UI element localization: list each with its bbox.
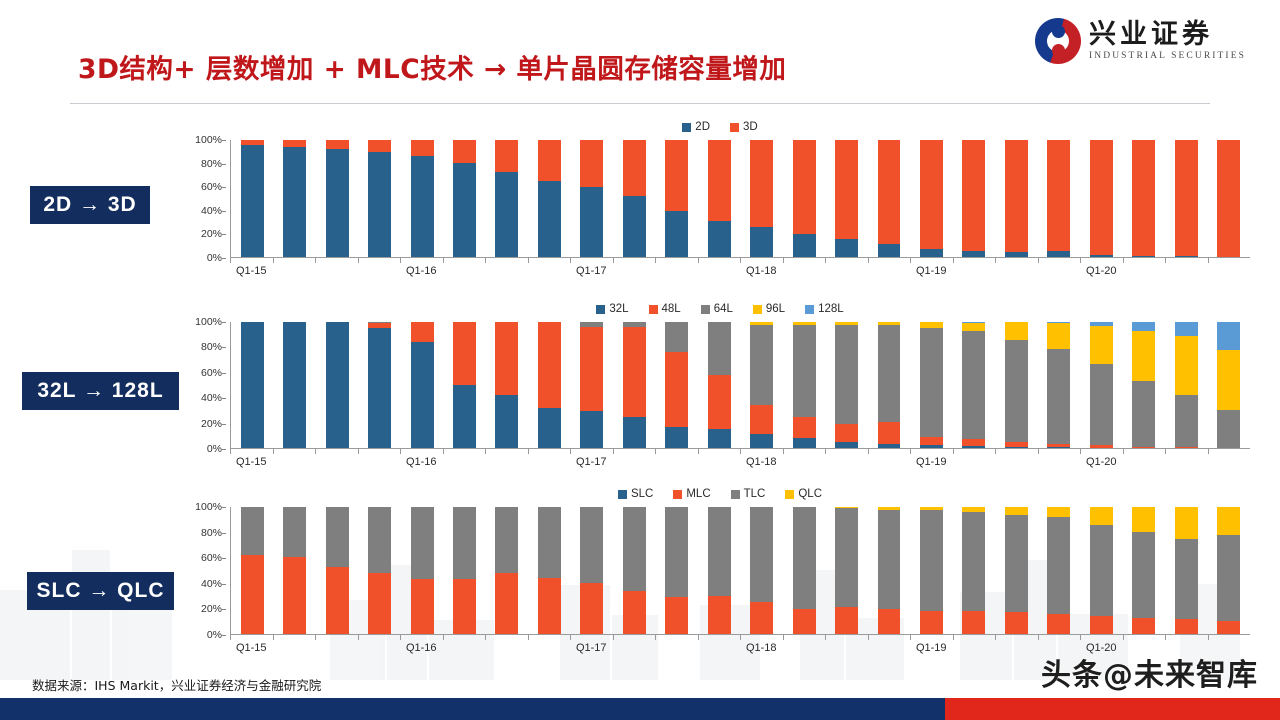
x-axis-tick-mark xyxy=(443,258,486,263)
bar-slot xyxy=(486,322,528,448)
stacked-bar[interactable] xyxy=(453,140,476,257)
bar-segment xyxy=(1005,447,1028,448)
bar-segment xyxy=(665,211,688,257)
bar-segment xyxy=(750,227,773,257)
bar-segment xyxy=(1047,507,1070,517)
bar-segment xyxy=(1175,507,1198,539)
x-axis-tick-mark xyxy=(315,635,358,640)
bar-segment xyxy=(1090,140,1113,255)
legend-item[interactable]: QLC xyxy=(785,488,822,500)
stacked-bar[interactable] xyxy=(495,507,518,634)
x-axis-tick-label xyxy=(613,456,656,468)
bar-slot xyxy=(571,322,613,448)
x-axis-tick-mark xyxy=(655,449,698,454)
x-axis-tick-label: Q1-16 xyxy=(400,642,443,654)
legend-item[interactable]: MLC xyxy=(673,488,710,500)
stacked-bar[interactable] xyxy=(495,140,518,257)
bar-slot xyxy=(953,507,995,634)
legend-item[interactable]: TLC xyxy=(731,488,766,500)
bar-segment xyxy=(920,510,943,612)
stacked-bar[interactable] xyxy=(1132,322,1155,448)
x-axis-tick-mark xyxy=(1038,635,1081,640)
bar-segment xyxy=(368,140,391,152)
bar-slot xyxy=(316,140,358,257)
stacked-bar[interactable] xyxy=(665,322,688,448)
x-axis-tick-label xyxy=(1123,265,1166,277)
x-axis-tick-label: Q1-18 xyxy=(740,265,783,277)
x-axis-tick-label xyxy=(698,456,741,468)
legend-label: SLC xyxy=(631,488,653,500)
bar-segment xyxy=(878,422,901,445)
x-axis-tick-mark xyxy=(315,449,358,454)
bar-segment xyxy=(495,395,518,448)
bar-segment xyxy=(835,140,858,239)
stacked-bar[interactable] xyxy=(495,322,518,448)
x-axis-tick-label xyxy=(315,642,358,654)
bar-segment xyxy=(750,507,773,602)
stacked-bar[interactable] xyxy=(580,140,603,257)
bar-segment xyxy=(1005,612,1028,634)
y-axis-tick-label: 20% xyxy=(201,228,222,240)
bar-slot xyxy=(995,140,1037,257)
x-axis-tick-mark xyxy=(910,258,953,263)
stacked-bar[interactable] xyxy=(538,507,561,634)
x-axis-tick-label: Q1-20 xyxy=(1080,456,1123,468)
bar-slot xyxy=(231,507,273,634)
bar-segment xyxy=(1090,525,1113,616)
stacked-bar[interactable] xyxy=(708,322,731,448)
x-axis-tick-label xyxy=(485,642,528,654)
bar-segment xyxy=(708,322,731,375)
stacked-bar[interactable] xyxy=(750,507,773,634)
y-axis-tick-label: 40% xyxy=(201,578,222,590)
x-axis-tick-label xyxy=(1208,265,1251,277)
stacked-bar[interactable] xyxy=(623,322,646,448)
bar-segment xyxy=(962,439,985,446)
bar-segment xyxy=(538,181,561,257)
bar-segment xyxy=(835,607,858,634)
legend-item[interactable]: 96L xyxy=(753,303,785,315)
stacked-bar[interactable] xyxy=(368,140,391,257)
stacked-bar[interactable] xyxy=(283,140,306,257)
x-axis-tick-label xyxy=(655,642,698,654)
chart-legend: 32L48L64L96L128L xyxy=(190,300,1250,318)
bar-slot xyxy=(868,507,910,634)
stacked-bar[interactable] xyxy=(1005,322,1028,448)
stacked-bar[interactable] xyxy=(1175,140,1198,257)
y-axis-tick-label: 100% xyxy=(195,316,222,328)
bar-segment xyxy=(1132,140,1155,256)
bar-segment xyxy=(538,408,561,448)
stacked-bar[interactable] xyxy=(793,507,816,634)
x-axis-tick-label xyxy=(698,265,741,277)
x-axis-tick-mark xyxy=(400,258,443,263)
legend-item[interactable]: 32L xyxy=(596,303,628,315)
stacked-bar[interactable] xyxy=(1090,140,1113,257)
y-axis-tick-label: 60% xyxy=(201,367,222,379)
stacked-bar[interactable] xyxy=(411,140,434,257)
stacked-bar[interactable] xyxy=(962,507,985,634)
x-axis-tick-mark xyxy=(1165,258,1208,263)
x-axis-tick-mark xyxy=(230,635,273,640)
x-axis-tick-label xyxy=(315,456,358,468)
stacked-bar[interactable] xyxy=(1217,507,1240,634)
x-axis-tick-mark xyxy=(910,449,953,454)
bar-segment xyxy=(962,140,985,251)
bar-segment xyxy=(1175,322,1198,336)
x-axis-tick-label: Q1-18 xyxy=(740,456,783,468)
stacked-bar[interactable] xyxy=(793,140,816,257)
bar-segment xyxy=(1217,507,1240,535)
x-axis-tick-label: Q1-18 xyxy=(740,642,783,654)
stacked-bar[interactable] xyxy=(962,322,985,448)
bar-slot xyxy=(1123,507,1165,634)
bar-segment xyxy=(878,325,901,422)
stacked-bar[interactable] xyxy=(241,322,264,448)
legend-swatch-icon xyxy=(673,490,682,499)
badge-slc-to-qlc: SLC → QLC xyxy=(27,572,174,610)
x-axis-tick-mark xyxy=(400,449,443,454)
bar-slot xyxy=(273,322,315,448)
stacked-bar[interactable] xyxy=(368,322,391,448)
bar-segment xyxy=(962,331,985,438)
bar-segment xyxy=(835,508,858,607)
bar-slot xyxy=(401,507,443,634)
x-axis-tick-mark xyxy=(230,258,273,263)
x-axis-tick-label xyxy=(953,265,996,277)
bar-segment xyxy=(962,446,985,448)
bar-slot xyxy=(231,140,273,257)
bar-segment xyxy=(878,510,901,609)
bar-slot xyxy=(698,140,740,257)
x-axis-tick-label: Q1-15 xyxy=(230,642,273,654)
stacked-bar[interactable] xyxy=(538,322,561,448)
bar-segment xyxy=(1217,410,1240,448)
legend-item[interactable]: 2D xyxy=(682,121,710,133)
bar-segment xyxy=(1047,614,1070,634)
bar-segment xyxy=(1047,447,1070,448)
bar-segment xyxy=(878,140,901,244)
stacked-bar[interactable] xyxy=(665,507,688,634)
x-axis-tick-label: Q1-17 xyxy=(570,456,613,468)
legend-item[interactable]: 48L xyxy=(649,303,681,315)
legend-swatch-icon xyxy=(649,305,658,314)
y-axis-tick-label: 40% xyxy=(201,205,222,217)
bar-slot xyxy=(528,140,570,257)
stacked-bar[interactable] xyxy=(1005,507,1028,634)
stacked-bar[interactable] xyxy=(920,322,943,448)
x-axis-tick-mark xyxy=(570,449,613,454)
bar-segment xyxy=(920,445,943,448)
x-axis-tick-label xyxy=(528,456,571,468)
bar-slot xyxy=(825,140,867,257)
x-axis-tick-label xyxy=(485,456,528,468)
stacked-bar[interactable] xyxy=(1047,507,1070,634)
bar-segment xyxy=(241,322,264,448)
x-axis-tick-mark xyxy=(655,258,698,263)
stacked-bar[interactable] xyxy=(750,322,773,448)
logo-chinese-name: 兴业证券 xyxy=(1089,21,1246,48)
bar-segment xyxy=(368,152,391,257)
bar-slot xyxy=(273,140,315,257)
legend-swatch-icon xyxy=(618,490,627,499)
x-axis-tick-label xyxy=(698,642,741,654)
chart-plot: 100%80%60%40%20%0% Q1-15Q1-16Q1-17Q1-18Q… xyxy=(190,322,1250,449)
bar-segment xyxy=(793,417,816,438)
x-axis-tick-label xyxy=(825,456,868,468)
x-axis-tick-mark xyxy=(1208,258,1251,263)
bar-slot xyxy=(1080,507,1122,634)
stacked-bar[interactable] xyxy=(708,140,731,257)
bar-segment xyxy=(835,325,858,425)
bar-segment xyxy=(368,507,391,573)
bar-slot xyxy=(358,322,400,448)
legend-label: 32L xyxy=(609,303,628,315)
plot-area xyxy=(230,507,1250,635)
y-axis-tick-mark xyxy=(222,140,226,141)
stacked-bar[interactable] xyxy=(580,507,603,634)
footer-bar-navy xyxy=(0,698,945,720)
bar-slot xyxy=(1123,322,1165,448)
y-axis-tick-label: 0% xyxy=(207,629,222,641)
bar-segment xyxy=(623,196,646,257)
x-axis-tick-mark xyxy=(1080,258,1123,263)
stacked-bar[interactable] xyxy=(835,140,858,257)
legend-item[interactable]: 128L xyxy=(805,303,844,315)
y-axis-tick-mark xyxy=(222,258,226,259)
bar-segment xyxy=(283,507,306,557)
bar-slot xyxy=(698,507,740,634)
stacked-bar[interactable] xyxy=(453,322,476,448)
bar-segment xyxy=(793,609,816,634)
bar-segment xyxy=(241,507,264,555)
bar-segment xyxy=(920,328,943,436)
stacked-bar[interactable] xyxy=(241,140,264,257)
stacked-bar[interactable] xyxy=(1047,322,1070,448)
x-axis-tick-label xyxy=(273,642,316,654)
y-axis-tick-mark xyxy=(222,507,226,508)
page-title: 3D结构+ 层数增加 + MLC技术 → 单片晶圆存储容量增加 xyxy=(78,47,786,86)
stacked-bar[interactable] xyxy=(878,507,901,634)
stacked-bar[interactable] xyxy=(326,140,349,257)
bar-segment xyxy=(580,583,603,634)
y-axis-tick-mark xyxy=(222,347,226,348)
source-note: 数据来源：IHS Markit，兴业证券经济与金融研究院 xyxy=(32,675,321,694)
bar-segment xyxy=(793,140,816,234)
chart-legend: SLCMLCTLCQLC xyxy=(190,485,1250,503)
bar-slot xyxy=(740,322,782,448)
x-axis-tick-label xyxy=(443,265,486,277)
legend-item[interactable]: 3D xyxy=(730,121,758,133)
x-axis-tick-label: Q1-15 xyxy=(230,456,273,468)
stacked-bar[interactable] xyxy=(411,322,434,448)
stacked-bar[interactable] xyxy=(1175,507,1198,634)
stacked-bar[interactable] xyxy=(962,140,985,257)
stacked-bar[interactable] xyxy=(878,140,901,257)
stacked-bar[interactable] xyxy=(920,507,943,634)
bar-segment xyxy=(1005,322,1028,340)
x-axis-tick-mark xyxy=(273,449,316,454)
x-axis-tick-mark xyxy=(1080,635,1123,640)
x-axis-tick-label xyxy=(485,265,528,277)
x-axis-tick-label: Q1-19 xyxy=(910,456,953,468)
stacked-bar[interactable] xyxy=(538,140,561,257)
x-axis-tick-label xyxy=(613,265,656,277)
stacked-bar[interactable] xyxy=(1217,140,1240,257)
x-axis-tick-mark xyxy=(485,449,528,454)
stacked-bar[interactable] xyxy=(623,140,646,257)
legend-item[interactable]: SLC xyxy=(618,488,653,500)
legend-item[interactable]: 64L xyxy=(701,303,733,315)
bar-slot xyxy=(571,140,613,257)
x-axis-tick-mark xyxy=(1038,258,1081,263)
bar-segment xyxy=(962,512,985,611)
stacked-bar[interactable] xyxy=(920,140,943,257)
bar-segment xyxy=(793,507,816,609)
x-axis-tick-mark xyxy=(1123,449,1166,454)
bar-slot xyxy=(571,507,613,634)
x-axis-tick-label xyxy=(953,456,996,468)
stacked-bar[interactable] xyxy=(580,322,603,448)
stacked-bar[interactable] xyxy=(878,322,901,448)
bar-segment xyxy=(538,507,561,578)
bar-slot xyxy=(656,140,698,257)
x-axis-tick-mark xyxy=(358,449,401,454)
stacked-bar[interactable] xyxy=(1217,322,1240,448)
bar-segment xyxy=(495,140,518,172)
stacked-bar[interactable] xyxy=(1090,507,1113,634)
bar-segment xyxy=(1047,140,1070,251)
x-axis-tick-mark xyxy=(273,635,316,640)
bar-slot xyxy=(953,322,995,448)
stacked-bar[interactable] xyxy=(708,507,731,634)
bar-segment xyxy=(920,611,943,634)
stacked-bar[interactable] xyxy=(283,322,306,448)
bar-series-container xyxy=(231,507,1250,634)
bar-segment xyxy=(1005,515,1028,613)
y-axis-tick-mark xyxy=(222,558,226,559)
y-axis-tick-label: 0% xyxy=(207,443,222,455)
chart-plot: 100%80%60%40%20%0% Q1-15Q1-16Q1-17Q1-18Q… xyxy=(190,507,1250,635)
bar-segment xyxy=(665,140,688,211)
stacked-bar[interactable] xyxy=(1005,140,1028,257)
bar-segment xyxy=(962,251,985,257)
legend-swatch-icon xyxy=(682,123,691,132)
stacked-bar[interactable] xyxy=(283,507,306,634)
stacked-bar[interactable] xyxy=(453,507,476,634)
x-axis-tick-label xyxy=(358,456,401,468)
bar-segment xyxy=(708,596,731,634)
stacked-bar[interactable] xyxy=(1175,322,1198,448)
legend-label: 2D xyxy=(695,121,710,133)
stacked-bar[interactable] xyxy=(411,507,434,634)
bar-segment xyxy=(1047,251,1070,257)
legend-swatch-icon xyxy=(730,123,739,132)
bar-slot xyxy=(1123,140,1165,257)
bar-slot xyxy=(613,140,655,257)
x-axis-tick-mark xyxy=(953,449,996,454)
x-axis-tick-label xyxy=(1123,456,1166,468)
y-axis-tick-label: 20% xyxy=(201,418,222,430)
bar-segment xyxy=(495,573,518,634)
stacked-bar[interactable] xyxy=(750,140,773,257)
y-axis-tick-mark xyxy=(222,635,226,636)
bar-slot xyxy=(910,140,952,257)
x-axis-tick-mark xyxy=(230,449,273,454)
stacked-bar[interactable] xyxy=(326,507,349,634)
stacked-bar[interactable] xyxy=(835,322,858,448)
x-axis-tick-mark xyxy=(613,449,656,454)
plot-area xyxy=(230,322,1250,449)
bar-segment xyxy=(920,437,943,446)
stacked-bar[interactable] xyxy=(1090,322,1113,448)
bar-segment xyxy=(1217,535,1240,621)
bar-slot xyxy=(528,322,570,448)
bar-slot xyxy=(1080,140,1122,257)
bar-slot xyxy=(401,322,443,448)
bar-slot xyxy=(486,507,528,634)
stacked-bar[interactable] xyxy=(326,322,349,448)
bar-segment xyxy=(538,322,561,408)
stacked-bar[interactable] xyxy=(623,507,646,634)
watermark: 头条@未来智库 xyxy=(1041,650,1258,694)
bar-slot xyxy=(316,507,358,634)
x-axis-tick-mark xyxy=(995,635,1038,640)
bar-segment xyxy=(1005,340,1028,442)
logo-swirl-icon xyxy=(1035,18,1081,64)
bar-segment xyxy=(411,156,434,257)
bar-segment xyxy=(878,609,901,634)
y-axis-tick-mark xyxy=(222,398,226,399)
stacked-bar[interactable] xyxy=(241,507,264,634)
bar-segment xyxy=(708,429,731,448)
x-axis-tick-mark xyxy=(528,635,571,640)
bar-segment xyxy=(453,322,476,385)
bar-slot xyxy=(1038,140,1080,257)
stacked-bar[interactable] xyxy=(1132,140,1155,257)
x-axis-tick-label xyxy=(783,642,826,654)
stacked-bar[interactable] xyxy=(368,507,391,634)
stacked-bar[interactable] xyxy=(835,507,858,634)
y-axis-tick-mark xyxy=(222,424,226,425)
bar-slot xyxy=(528,507,570,634)
x-axis-tick-label xyxy=(315,265,358,277)
bar-slot xyxy=(1165,322,1207,448)
stacked-bar[interactable] xyxy=(665,140,688,257)
bar-segment xyxy=(623,591,646,634)
stacked-bar[interactable] xyxy=(1132,507,1155,634)
y-axis-tick-label: 20% xyxy=(201,603,222,615)
title-divider xyxy=(70,103,1210,104)
x-axis-tick-label xyxy=(528,642,571,654)
x-axis-tick-mark xyxy=(443,635,486,640)
stacked-bar[interactable] xyxy=(793,322,816,448)
bar-slot xyxy=(613,322,655,448)
bar-segment xyxy=(750,140,773,227)
bar-segment xyxy=(411,507,434,579)
x-axis-tick-mark xyxy=(698,258,741,263)
x-axis-tick-mark xyxy=(698,449,741,454)
x-axis-tick-mark xyxy=(783,635,826,640)
bar-segment xyxy=(962,611,985,634)
bar-segment xyxy=(1132,256,1155,257)
bar-segment xyxy=(1175,256,1198,257)
bar-segment xyxy=(326,322,349,448)
bar-segment xyxy=(1005,507,1028,515)
stacked-bar[interactable] xyxy=(1047,140,1070,257)
legend-swatch-icon xyxy=(805,305,814,314)
legend-swatch-icon xyxy=(753,305,762,314)
